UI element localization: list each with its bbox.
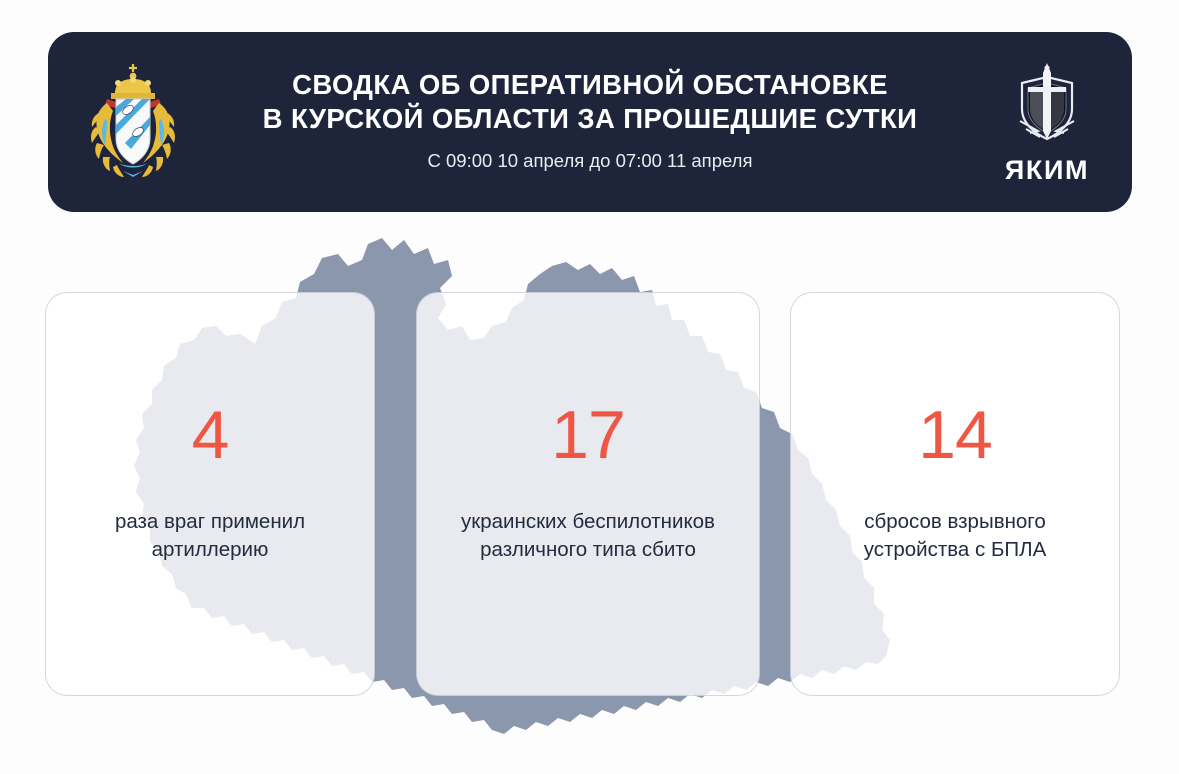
kursk-oblast-coat-of-arms-icon xyxy=(85,59,181,185)
title-line-2: В КУРСКОЙ ОБЛАСТИ ЗА ПРОШЕДШИЕ СУТКИ xyxy=(263,102,918,136)
stat-label: раза враг применил артиллерию xyxy=(101,508,319,565)
infographic-canvas: СВОДКА ОБ ОПЕРАТИВНОЙ ОБСТАНОВКЕ В КУРСК… xyxy=(0,0,1179,774)
stat-label: украинских беспилотников различного типа… xyxy=(455,508,721,565)
stat-value: 17 xyxy=(551,403,625,468)
title-line-1: СВОДКА ОБ ОПЕРАТИВНОЙ ОБСТАНОВКЕ xyxy=(292,68,888,102)
header-panel: СВОДКА ОБ ОПЕРАТИВНОЙ ОБСТАНОВКЕ В КУРСК… xyxy=(48,32,1132,212)
header-period-subtitle: С 09:00 10 апреля до 07:00 11 апреля xyxy=(428,150,753,172)
coat-of-arms-container xyxy=(48,59,218,185)
stat-card-drones-downed: 17 украинских беспилотников различного т… xyxy=(416,292,760,696)
header-titles: СВОДКА ОБ ОПЕРАТИВНОЙ ОБСТАНОВКЕ В КУРСК… xyxy=(218,68,962,175)
stat-value: 14 xyxy=(918,403,992,468)
stat-value: 4 xyxy=(192,403,229,468)
stat-card-explosive-drops: 14 сбросов взрывного устройства с БПЛА xyxy=(790,292,1120,696)
stat-label: сбросов взрывного устройства с БПЛА xyxy=(850,508,1061,565)
stat-card-artillery: 4 раза враг применил артиллерию xyxy=(45,292,375,696)
shield-sword-icon xyxy=(1006,59,1088,151)
brand-logo: ЯКИМ xyxy=(962,59,1132,186)
brand-logo-text: ЯКИМ xyxy=(1005,155,1089,186)
